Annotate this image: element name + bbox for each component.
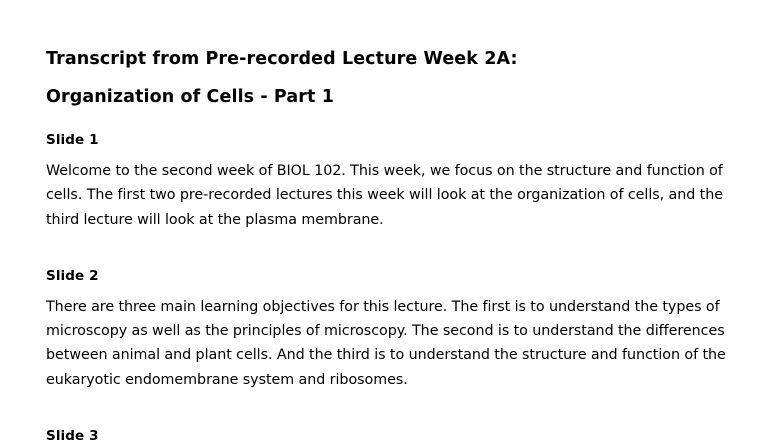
title-spacer xyxy=(46,116,748,130)
document-title-line-1: Transcript from Pre-recorded Lecture Wee… xyxy=(46,0,748,78)
heading-body-spacer-2 xyxy=(46,286,748,295)
section-spacer-1 xyxy=(46,232,748,266)
document-title-line-2: Organization of Cells - Part 1 xyxy=(46,78,748,116)
slide-heading-2: Slide 2 xyxy=(46,266,748,286)
document-content: Transcript from Pre-recorded Lecture Wee… xyxy=(46,0,748,441)
heading-body-spacer-1 xyxy=(46,150,748,159)
slide-heading-3: Slide 3 xyxy=(46,426,748,441)
document-page: Transcript from Pre-recorded Lecture Wee… xyxy=(0,0,784,441)
slide-heading-1: Slide 1 xyxy=(46,130,748,150)
slide-body-2: There are three main learning objectives… xyxy=(46,295,748,392)
slide-body-1: Welcome to the second week of BIOL 102. … xyxy=(46,159,748,232)
section-spacer-2 xyxy=(46,392,748,426)
